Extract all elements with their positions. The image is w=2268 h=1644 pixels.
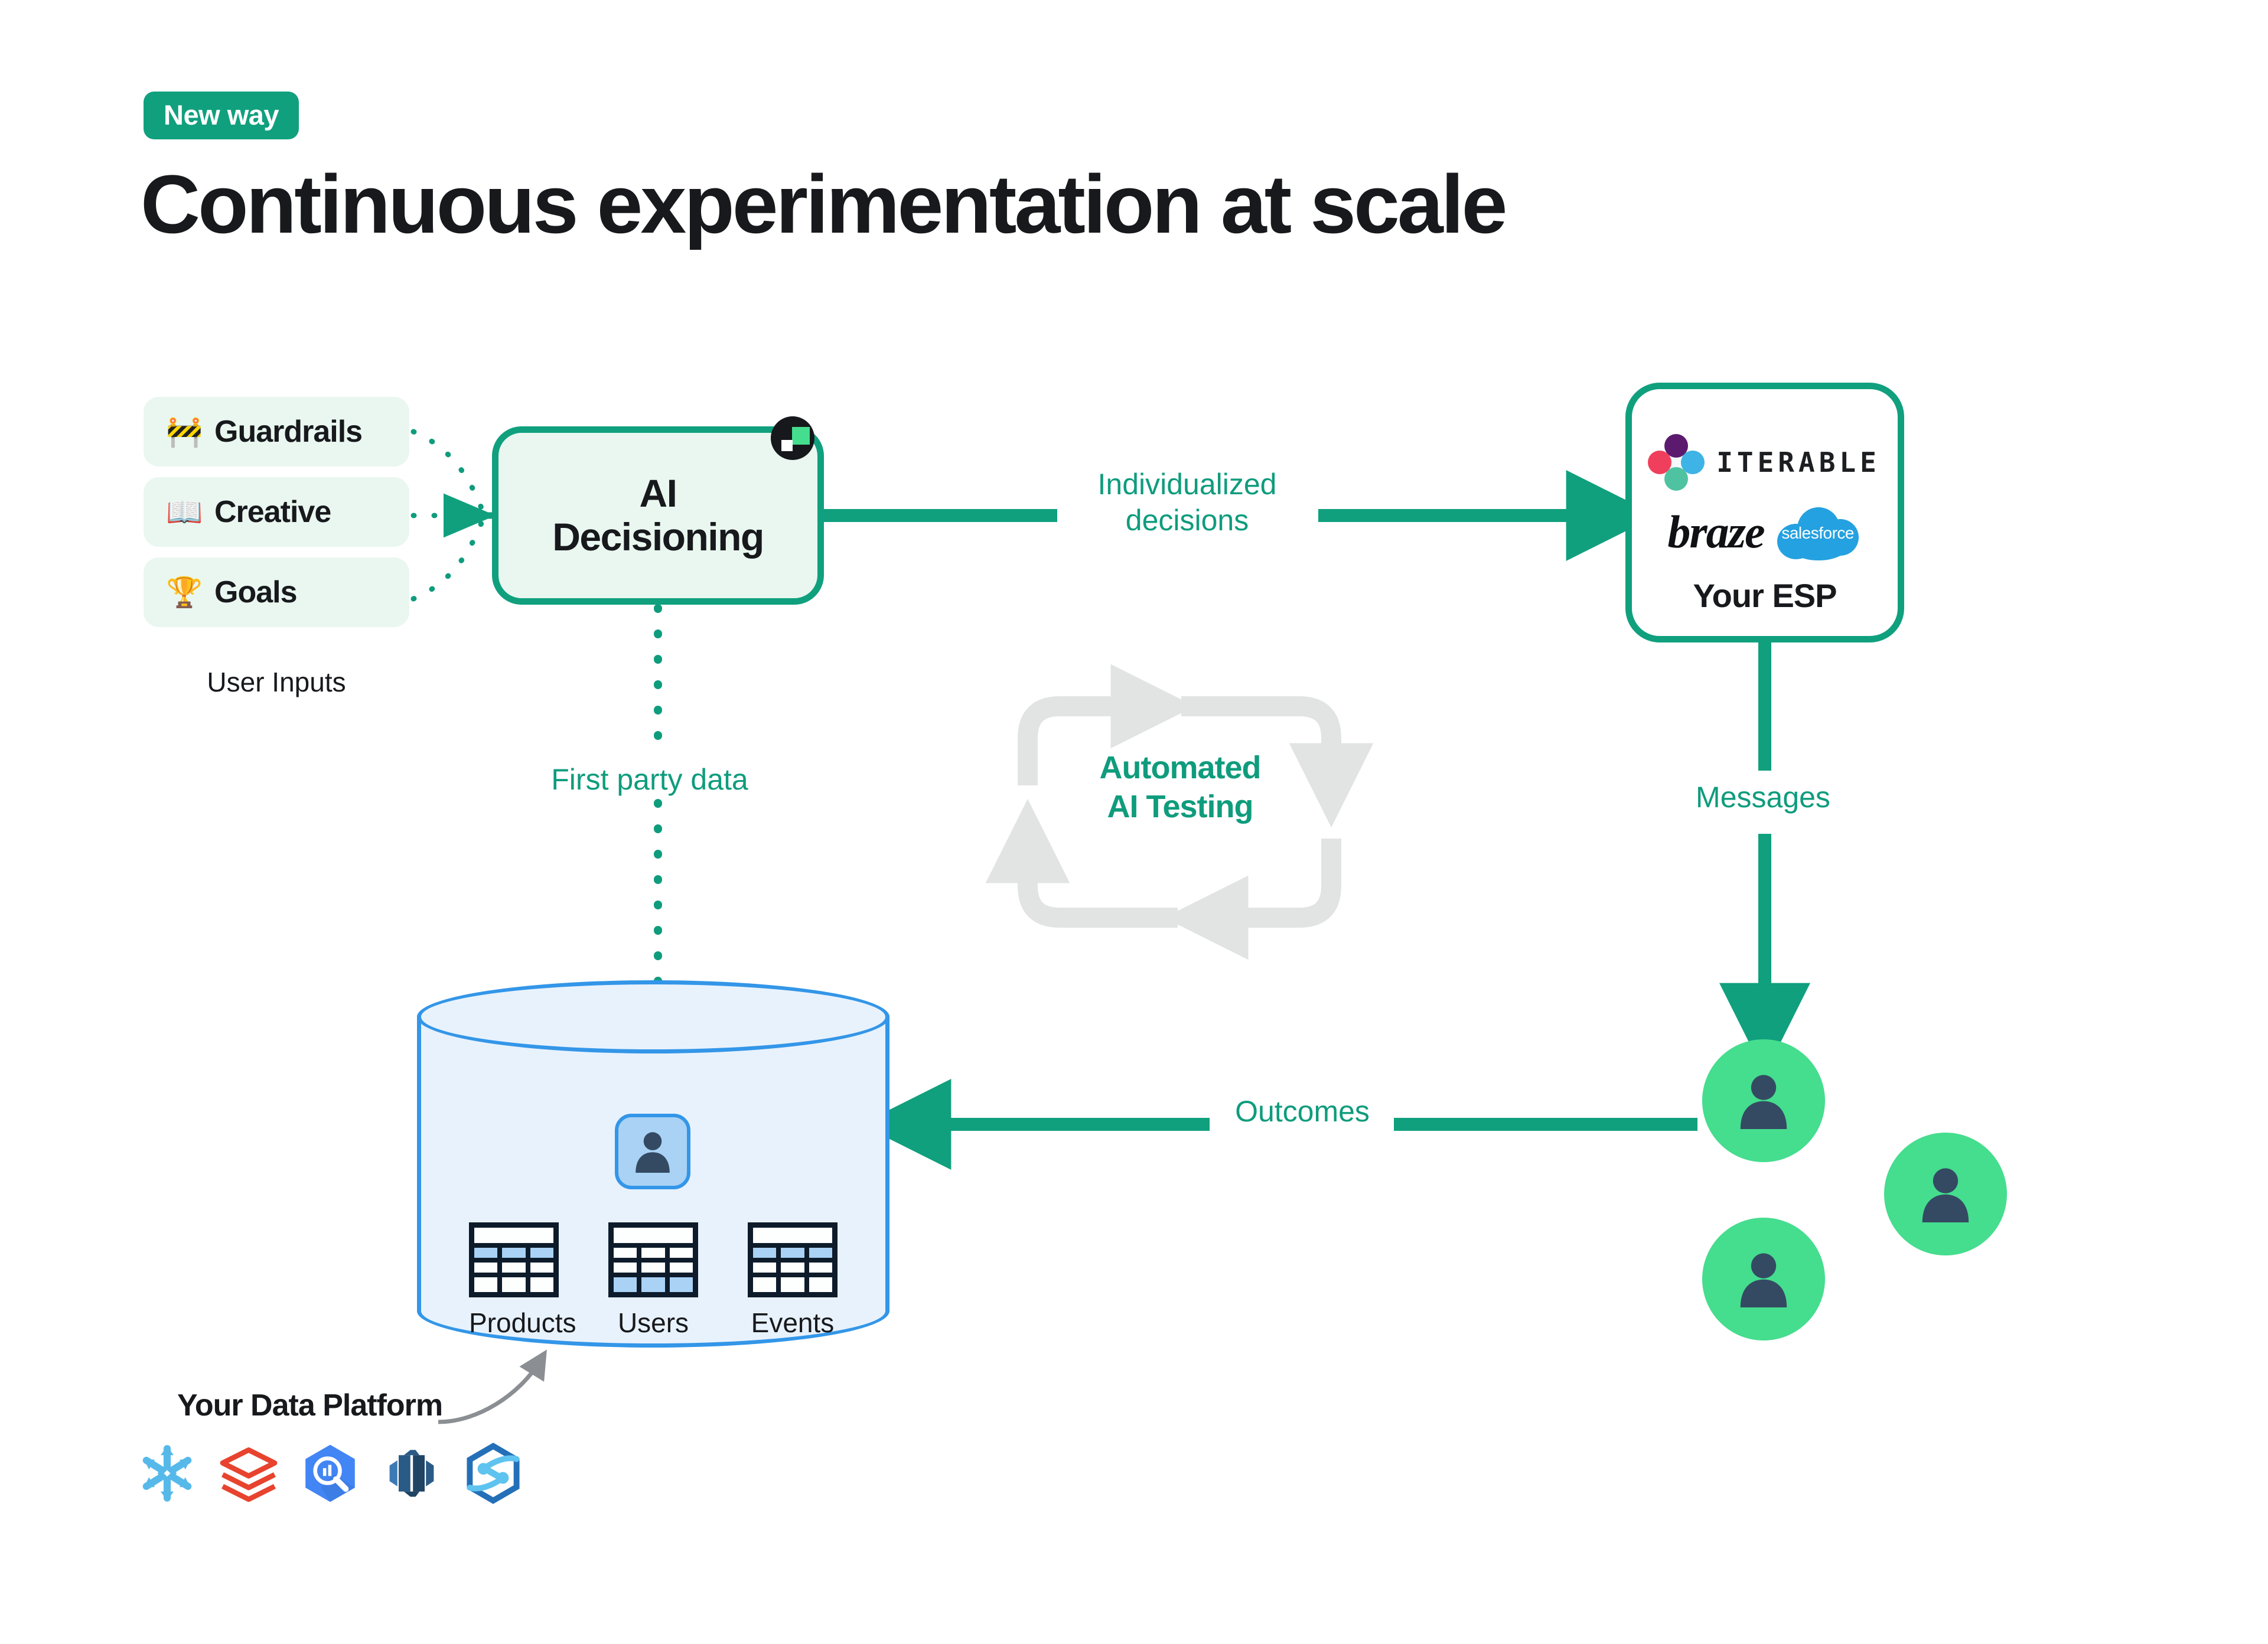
cycle-line2: AI Testing: [1107, 789, 1253, 824]
table-icon-events: Events: [748, 1222, 838, 1339]
input-chip-label: Creative: [214, 494, 331, 530]
input-chip-creative[interactable]: 📖 Creative: [144, 477, 409, 547]
amplitude-logo-square-white: [781, 440, 793, 451]
table-row: [474, 1248, 553, 1263]
esp-logo-row-iterable: ITERABLE: [1632, 435, 1898, 490]
input-chip-label: Goals: [214, 575, 297, 610]
iterable-wordmark: ITERABLE: [1716, 446, 1881, 478]
esp-logo-row-braze-salesforce: braze salesforce: [1632, 501, 1898, 563]
databricks-logo-icon: [216, 1441, 281, 1506]
table-grid: [748, 1222, 838, 1297]
input-connector-dots: [413, 432, 483, 599]
input-chip-label: Guardrails: [214, 414, 362, 449]
synapse-logo-icon: [461, 1441, 526, 1506]
table-row: [614, 1248, 693, 1263]
data-platform-logo-row: [135, 1441, 526, 1506]
construction-barrier-icon: 🚧: [166, 417, 199, 446]
open-book-icon: 📖: [166, 497, 199, 527]
table-label: Products: [469, 1307, 559, 1339]
table-row: [753, 1228, 832, 1248]
table-row: [474, 1228, 553, 1248]
person-avatar-icon: [1884, 1133, 2007, 1255]
label-outcomes: Outcomes: [1214, 1094, 1391, 1130]
table-label: Users: [608, 1307, 698, 1339]
ai-decisioning-card[interactable]: AI Decisioning: [492, 426, 824, 605]
data-platform-pointer-arrow: [438, 1363, 539, 1422]
cylinder-contents: Products Users Events: [417, 980, 889, 1346]
person-glyph: [631, 1128, 674, 1175]
database-cylinder-icon: Products Users Events: [417, 980, 889, 1346]
table-row: [753, 1248, 832, 1263]
person-avatar-icon: [1702, 1039, 1825, 1162]
cycle-line1: Automated: [1100, 750, 1261, 785]
input-chip-guardrails[interactable]: 🚧 Guardrails: [144, 397, 409, 467]
table-row: [474, 1277, 553, 1292]
table-row: [474, 1263, 553, 1277]
label-messages: Messages: [1674, 779, 1852, 816]
table-grid: [469, 1222, 559, 1297]
table-label: Events: [748, 1307, 838, 1339]
redshift-logo-icon: [379, 1441, 444, 1506]
label-line2: decisions: [1126, 504, 1249, 537]
label-first-party-data: First party data: [520, 762, 780, 798]
braze-logo-icon: braze: [1667, 505, 1764, 559]
salesforce-wordmark: salesforce: [1774, 524, 1862, 543]
automated-ai-testing-label: Automated AI Testing: [1086, 749, 1275, 827]
your-esp-card[interactable]: ITERABLE braze salesforce Your ESP: [1625, 383, 1904, 642]
table-row: [614, 1263, 693, 1277]
table-row: [614, 1277, 693, 1292]
ai-decisioning-label: AI Decisioning: [552, 472, 764, 559]
table-row: [753, 1263, 832, 1277]
your-esp-label: Your ESP: [1632, 576, 1898, 615]
label-individualized-decisions: Individualized decisions: [1063, 467, 1311, 539]
person-avatar-icon: [1702, 1218, 1825, 1340]
trophy-icon: 🏆: [166, 578, 199, 607]
ai-decisioning-line1: AI: [640, 471, 677, 515]
diagram-canvas: New way Continuous experimentation at sc…: [0, 0, 2268, 1644]
salesforce-logo-icon: salesforce: [1774, 501, 1862, 563]
snowflake-logo-icon: [135, 1441, 200, 1506]
input-chip-goals[interactable]: 🏆 Goals: [144, 557, 409, 627]
table-row: [753, 1277, 832, 1292]
bigquery-logo-icon: [298, 1441, 363, 1506]
user-record-icon: [615, 1114, 690, 1189]
label-line1: Individualized: [1098, 468, 1277, 501]
page-title: Continuous experimentation at scale: [141, 161, 1505, 247]
iterable-logo-icon: [1649, 435, 1703, 490]
table-icon-products: Products: [469, 1222, 559, 1339]
user-inputs-caption: User Inputs: [144, 666, 409, 698]
amplitude-logo-icon: [771, 416, 814, 460]
iterable-dot-bottom: [1664, 467, 1688, 491]
table-icon-users: Users: [608, 1222, 698, 1339]
new-way-badge: New way: [144, 92, 299, 139]
table-row: [614, 1228, 693, 1248]
amplitude-logo-square-green: [792, 427, 810, 445]
table-grid: [608, 1222, 698, 1297]
ai-decisioning-line2: Decisioning: [552, 515, 764, 559]
data-platform-caption: Your Data Platform: [177, 1388, 442, 1423]
